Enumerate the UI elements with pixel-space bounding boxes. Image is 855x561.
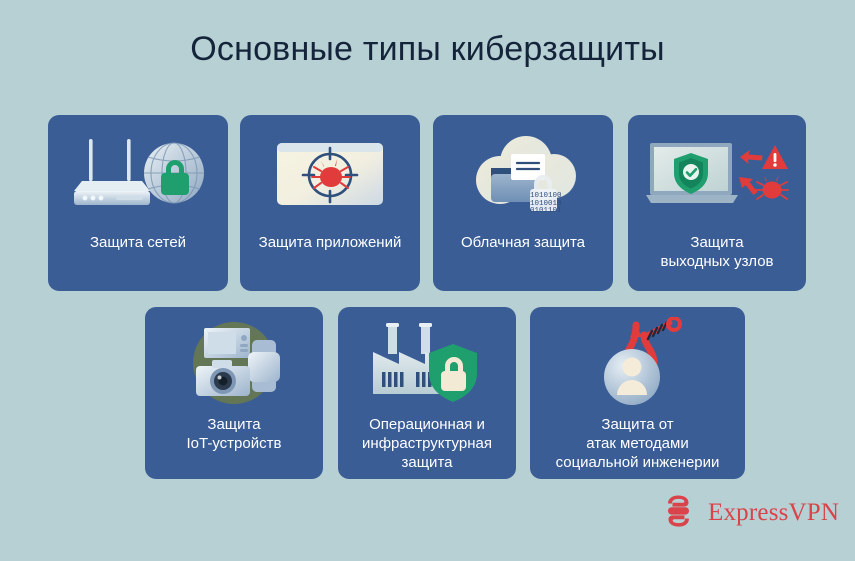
card-endpoint-protection[interactable]: Защита выходных узлов: [628, 115, 806, 291]
router-globe-lock-icon: [48, 125, 228, 225]
card-cloud-protection-label: Облачная защита: [433, 233, 613, 252]
card-network-protection-label: Защита сетей: [48, 233, 228, 252]
card-endpoint-protection-label: Защита выходных узлов: [628, 233, 806, 271]
card-iot-protection[interactable]: Защита IoT-устройств: [145, 307, 323, 479]
card-social-engineering-protection[interactable]: Защита от атак методами социальной инжен…: [530, 307, 745, 479]
card-iot-protection-label: Защита IoT-устройств: [145, 415, 323, 453]
card-application-protection[interactable]: Защита приложений: [240, 115, 420, 291]
svg-text:0101101: 0101101: [530, 207, 562, 215]
page-title: Основные типы киберзащиты: [0, 30, 855, 69]
app-window-crosshair-bug-icon: [240, 125, 420, 225]
card-social-engineering-protection-label: Защита от атак методами социальной инжен…: [530, 415, 745, 472]
laptop-shield-threats-icon: [628, 125, 806, 225]
card-operational-protection[interactable]: Операционная и инфраструктурная защита: [338, 307, 516, 479]
card-application-protection-label: Защита приложений: [240, 233, 420, 252]
cloud-folder-binary-lock-icon: 1010100 1010010 0101101: [433, 125, 613, 225]
svg-text:1010100: 1010100: [530, 192, 562, 200]
card-operational-protection-label: Операционная и инфраструктурная защита: [338, 415, 516, 472]
phishing-hook-user-icon: [530, 317, 745, 409]
iot-devices-circle-icon: [145, 317, 323, 409]
card-network-protection[interactable]: Защита сетей: [48, 115, 228, 291]
factory-shield-lock-icon: [338, 317, 516, 409]
card-cloud-protection[interactable]: 1010100 1010010 0101101 Облачная защита: [433, 115, 613, 291]
brand-name: ExpressVPN: [708, 499, 839, 527]
infographic-canvas: Основные типы киберзащиты: [0, 0, 855, 561]
expressvpn-logo[interactable]: ExpressVPN: [664, 494, 824, 532]
expressvpn-e-mark-icon: [664, 495, 700, 532]
